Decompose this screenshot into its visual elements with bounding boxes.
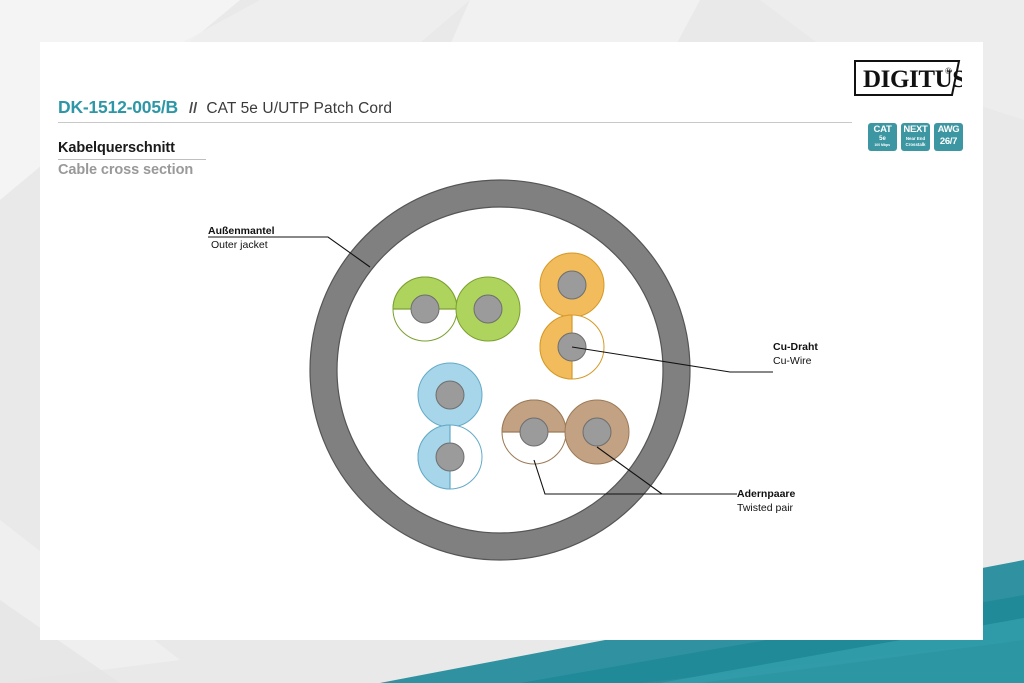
- wire-green-striped: [393, 277, 457, 341]
- cross-section-svg: Außenmantel Outer jacket Cu-Draht Cu-Wir…: [40, 42, 983, 640]
- cu-core: [558, 271, 586, 299]
- wire-brown-solid: [565, 400, 629, 464]
- cable-cross-section-diagram: Außenmantel Outer jacket Cu-Draht Cu-Wir…: [40, 42, 983, 640]
- cu-core: [583, 418, 611, 446]
- outer-jacket-ring: [310, 180, 690, 560]
- wire-green-solid: [456, 277, 520, 341]
- cu-core: [520, 418, 548, 446]
- callout-twisted-pair-label-de: Adernpaare: [737, 488, 796, 500]
- cu-core: [411, 295, 439, 323]
- cu-core: [436, 381, 464, 409]
- callout-outer-jacket-label-de: Außenmantel: [208, 225, 275, 237]
- wire-orange-solid: [540, 253, 604, 317]
- callout-cu-wire-label-en: Cu-Wire: [773, 355, 812, 367]
- callout-cu-wire-label-de: Cu-Draht: [773, 341, 818, 353]
- callout-twisted-pair-label-en: Twisted pair: [737, 502, 794, 514]
- wire-blue-striped: [418, 425, 482, 489]
- slide-card: DK-1512-005/B // CAT 5e U/UTP Patch Cord…: [40, 42, 983, 640]
- callout-outer-jacket-label-en: Outer jacket: [211, 239, 268, 251]
- cu-core: [436, 443, 464, 471]
- cu-core: [474, 295, 502, 323]
- wire-blue-solid: [418, 363, 482, 427]
- wire-brown-striped: [502, 400, 566, 464]
